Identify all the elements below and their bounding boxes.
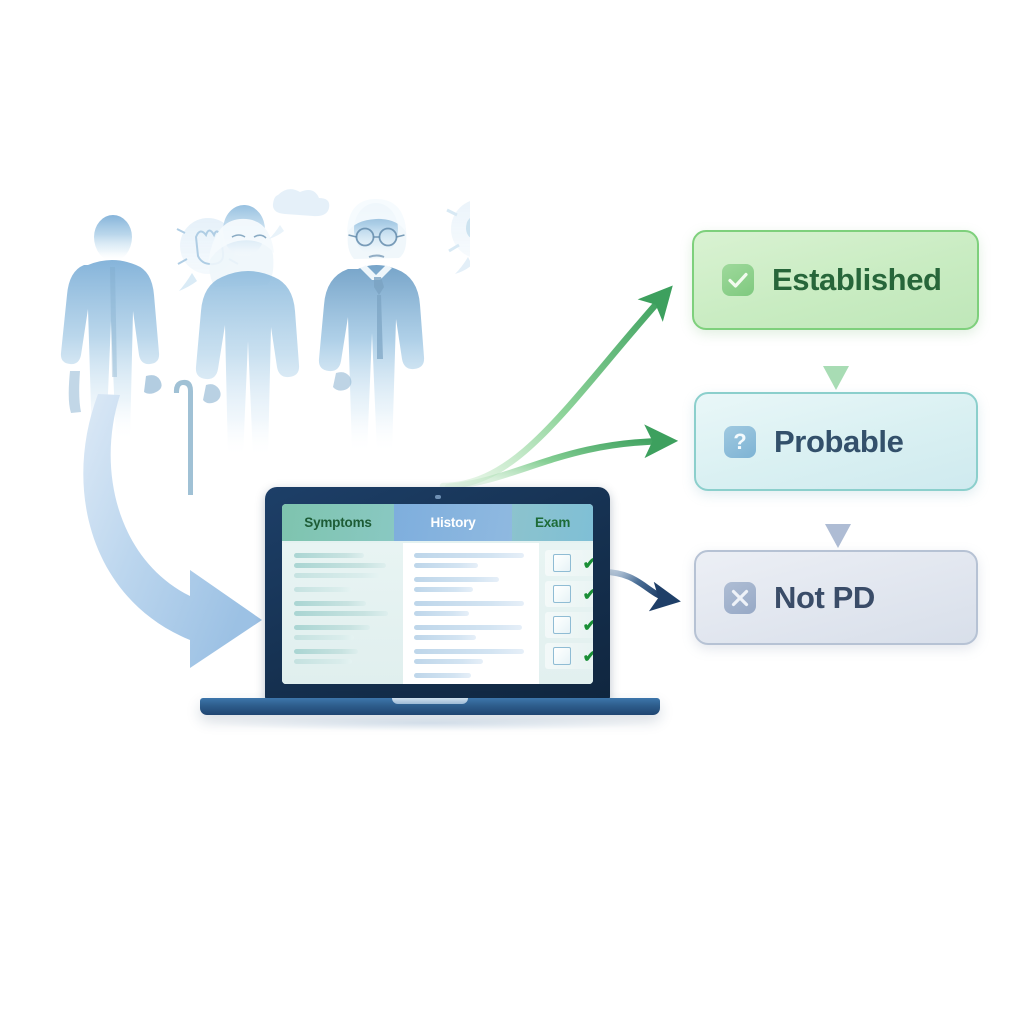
- tab-history[interactable]: History: [394, 504, 512, 541]
- history-pane: [403, 543, 539, 684]
- patient-group: [40, 185, 470, 515]
- symptom-line-group: [294, 601, 394, 616]
- question-square-icon: ?: [724, 426, 756, 458]
- tab-bar[interactable]: Symptoms History Exam: [282, 504, 593, 541]
- clinical-assessment-laptop[interactable]: Symptoms History Exam: [200, 487, 660, 737]
- history-line-group: [414, 553, 529, 568]
- trackpad-notch: [392, 698, 468, 704]
- exam-checkbox[interactable]: [553, 647, 571, 665]
- history-line-group: [414, 577, 529, 592]
- laptop-base: [200, 698, 660, 715]
- exam-row[interactable]: ✔: [545, 643, 593, 669]
- symptom-line-group: [294, 553, 394, 578]
- symptoms-pane: [282, 543, 403, 684]
- laptop-lid: Symptoms History Exam: [265, 487, 610, 702]
- illustration-canvas: Symptoms History Exam: [0, 0, 1024, 1024]
- history-line-group: [414, 625, 529, 640]
- outcome-card-probable[interactable]: ? Probable: [694, 392, 978, 491]
- symptom-line-group: [294, 587, 394, 592]
- exam-checkbox[interactable]: [553, 585, 571, 603]
- exam-row[interactable]: ✔: [545, 612, 593, 638]
- check-icon: ✔: [583, 648, 593, 665]
- x-square-icon: [724, 582, 756, 614]
- established-to-probable-arrow: [823, 332, 849, 390]
- exam-checkbox[interactable]: [553, 616, 571, 634]
- laptop-to-established-arrow: [443, 293, 666, 486]
- brain-icon: [447, 199, 470, 274]
- webcam-icon: [435, 495, 441, 499]
- outcome-card-label: Established: [772, 262, 942, 298]
- symptom-line-group: [294, 649, 394, 664]
- exam-checkbox[interactable]: [553, 554, 571, 572]
- tab-symptoms[interactable]: Symptoms: [282, 504, 394, 541]
- laptop-to-probable-arrow: [448, 441, 668, 487]
- outcome-card-label: Probable: [774, 424, 903, 460]
- check-icon: ✔: [583, 555, 593, 572]
- tab-exam[interactable]: Exam: [512, 504, 593, 541]
- laptop-shadow: [210, 715, 650, 731]
- outcome-card-established[interactable]: Established: [692, 230, 979, 330]
- history-line-group: [414, 649, 529, 664]
- symptom-line-group: [294, 625, 394, 640]
- outcome-card-label: Not PD: [774, 580, 875, 616]
- probable-to-notpd-arrow: [825, 493, 851, 548]
- exam-row[interactable]: ✔: [545, 581, 593, 607]
- outcome-card-notpd[interactable]: Not PD: [694, 550, 978, 645]
- thought-cloud-icon: [269, 189, 329, 239]
- history-line-group: [414, 673, 529, 678]
- exam-row[interactable]: ✔: [545, 550, 593, 576]
- laptop-screen[interactable]: Symptoms History Exam: [282, 504, 593, 684]
- check-square-icon: [722, 264, 754, 296]
- history-line-group: [414, 601, 529, 616]
- check-icon: ✔: [583, 617, 593, 634]
- exam-pane: ✔ ✔ ✔ ✔: [539, 543, 593, 684]
- check-icon: ✔: [583, 586, 593, 603]
- patient-man-tie: [319, 199, 470, 453]
- screen-panes: ✔ ✔ ✔ ✔: [282, 541, 593, 684]
